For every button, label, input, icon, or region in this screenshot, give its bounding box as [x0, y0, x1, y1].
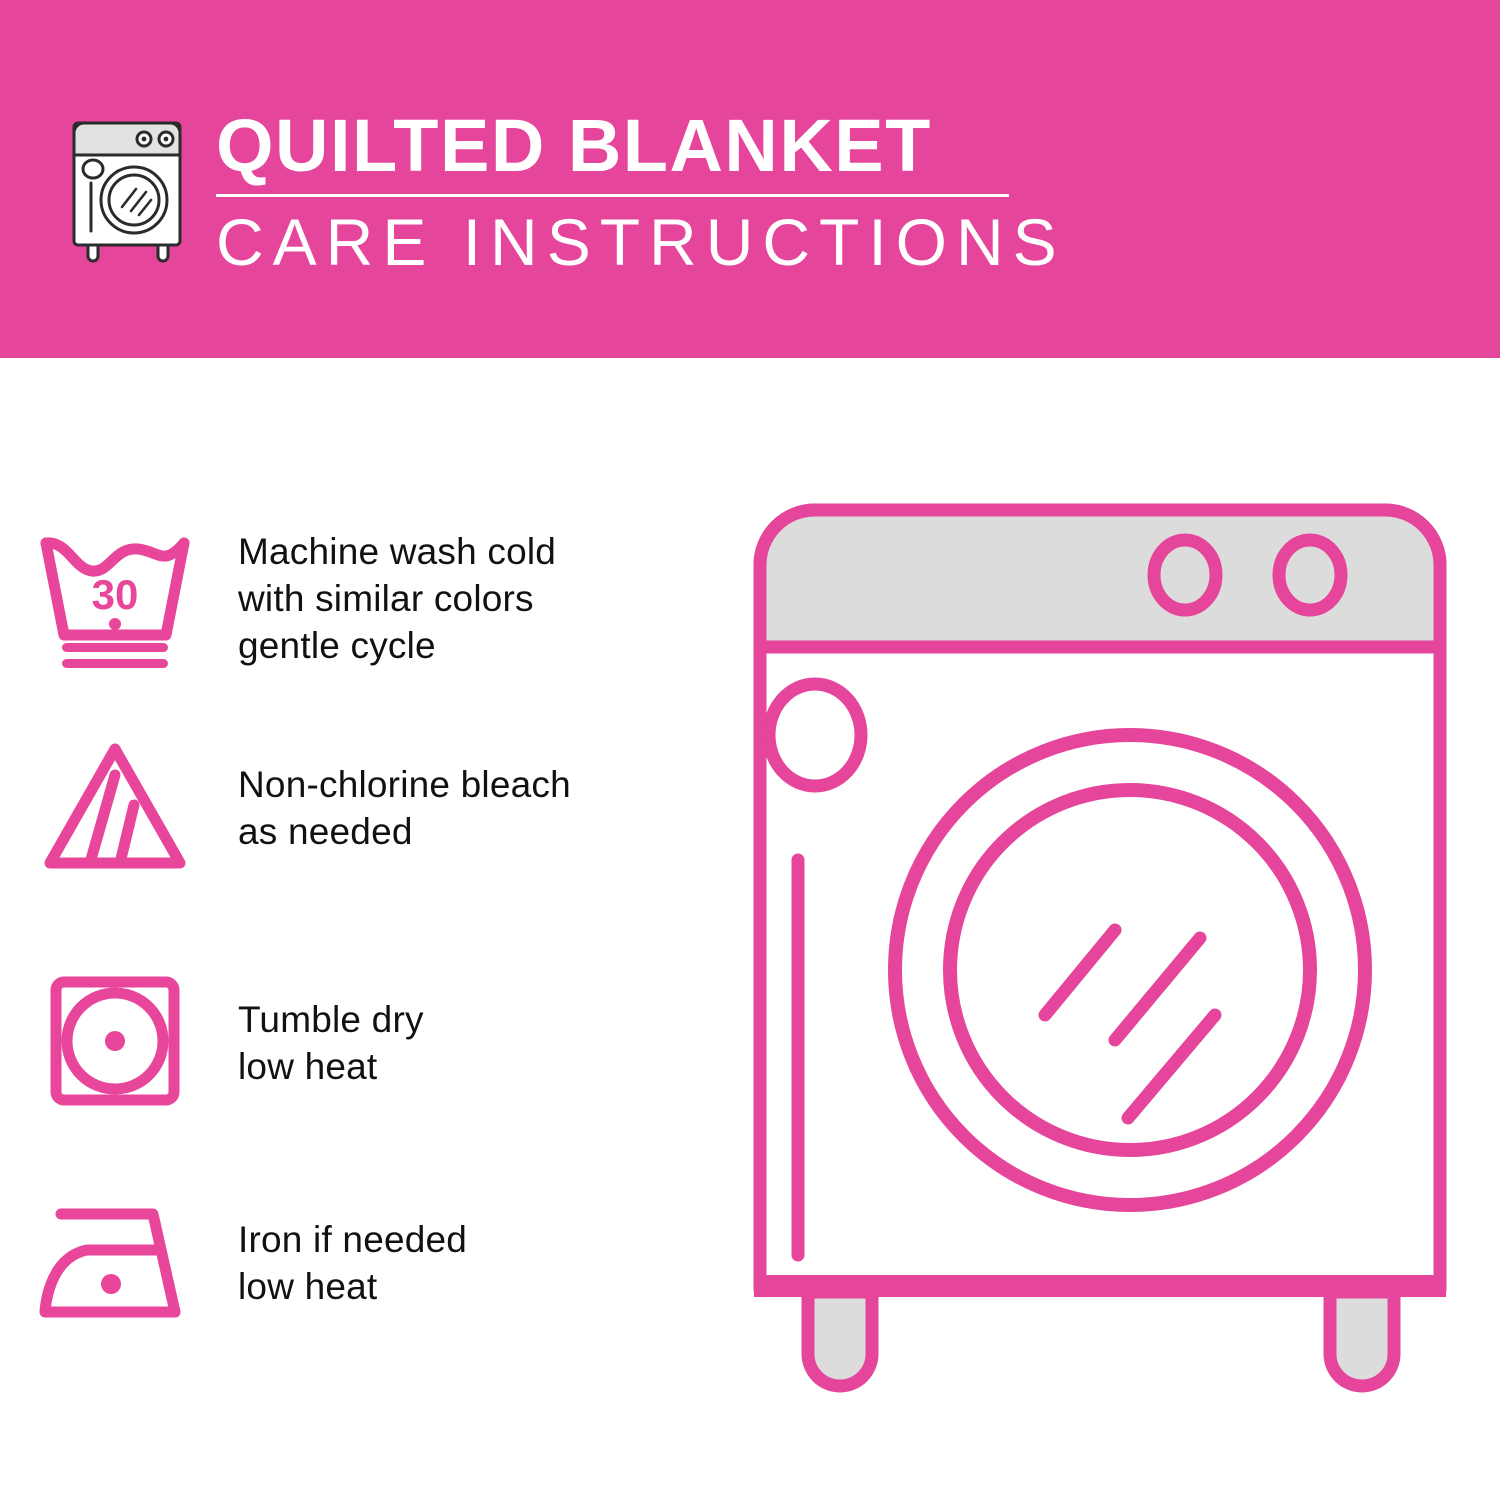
knob-left [1154, 540, 1216, 610]
care-text-line: gentle cycle [238, 622, 556, 669]
care-text-tumble-dry: Tumble dry low heat [230, 996, 424, 1090]
title-divider [216, 194, 1009, 197]
page-title: QUILTED BLANKET [216, 104, 1046, 188]
care-row-iron: Iron if needed low heat [0, 1178, 720, 1348]
care-text-line: low heat [238, 1263, 467, 1310]
tumble-dry-low-heat-icon [0, 968, 230, 1118]
care-text-wash: Machine wash cold with similar colors ge… [230, 528, 556, 669]
wash-basin-30-gentle-icon: 30 [0, 523, 230, 673]
iron-low-heat-icon [0, 1188, 230, 1338]
header-title-group: QUILTED BLANKET CARE INSTRUCTIONS [216, 104, 1046, 281]
care-text-iron: Iron if needed low heat [230, 1216, 467, 1310]
care-text-line: Tumble dry [238, 996, 424, 1043]
leg-right [1330, 1292, 1394, 1386]
knob-right [1279, 540, 1341, 610]
non-chlorine-bleach-triangle-icon [0, 733, 230, 883]
care-text-line: Non-chlorine bleach [238, 761, 571, 808]
detergent-port [769, 684, 861, 786]
care-text-line: low heat [238, 1043, 424, 1090]
care-text-line: Machine wash cold [238, 528, 556, 575]
page-subtitle: CARE INSTRUCTIONS [216, 203, 1046, 281]
care-row-wash: 30 Machine wash cold with similar colors… [0, 508, 720, 688]
care-text-line: Iron if needed [238, 1216, 467, 1263]
leg-left [808, 1292, 872, 1386]
care-text-bleach: Non-chlorine bleach as needed [230, 761, 571, 855]
care-instructions-list: 30 Machine wash cold with similar colors… [0, 358, 720, 1500]
wash-temperature-label: 30 [92, 571, 139, 618]
front-load-washing-machine-illustration [730, 470, 1470, 1430]
care-text-line: as needed [238, 808, 571, 855]
care-row-bleach: Non-chlorine bleach as needed [0, 728, 720, 888]
washing-machine-logo-icon [66, 105, 194, 265]
care-row-tumble-dry: Tumble dry low heat [0, 958, 720, 1128]
care-text-line: with similar colors [238, 575, 556, 622]
header-banner: QUILTED BLANKET CARE INSTRUCTIONS [0, 0, 1500, 358]
